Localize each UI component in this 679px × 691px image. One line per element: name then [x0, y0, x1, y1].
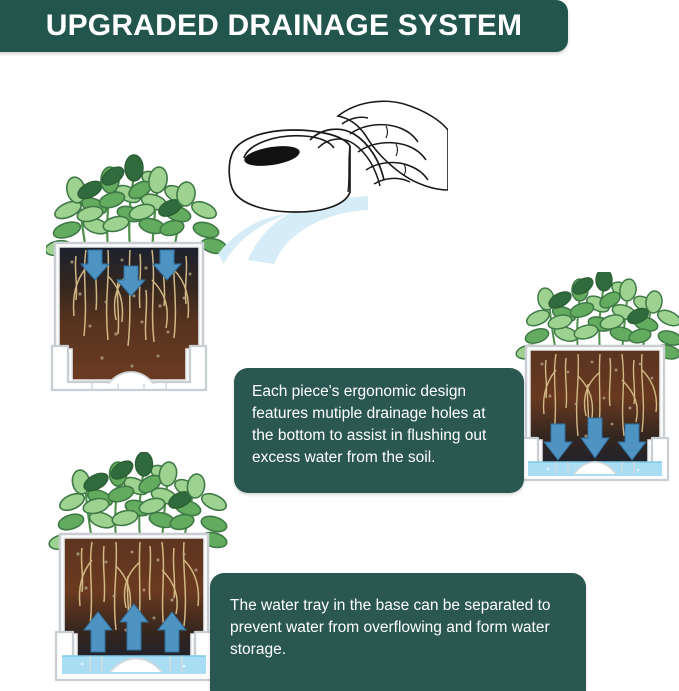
- infographic-page: UPGRADED DRAINAGE SYSTEM: [0, 0, 679, 691]
- planter-right: [512, 272, 679, 494]
- page-title: UPGRADED DRAINAGE SYSTEM: [32, 9, 523, 43]
- callout-water-tray-text: The water tray in the base can be separa…: [230, 597, 551, 658]
- callout-water-tray: The water tray in the base can be separa…: [210, 573, 586, 691]
- callout-drainage-holes-text: Each piece's ergonomic design features m…: [252, 383, 486, 466]
- water-flow-arrows-down: [544, 418, 646, 460]
- hand: [338, 101, 448, 190]
- callout-drainage-holes: Each piece's ergonomic design features m…: [234, 368, 524, 493]
- title-banner: UPGRADED DRAINAGE SYSTEM: [0, 0, 568, 52]
- hand-holding-watering-can: [218, 78, 448, 273]
- can-body: [229, 130, 350, 212]
- planter-bottom-left: [48, 452, 228, 691]
- planter-top-left: [46, 150, 246, 400]
